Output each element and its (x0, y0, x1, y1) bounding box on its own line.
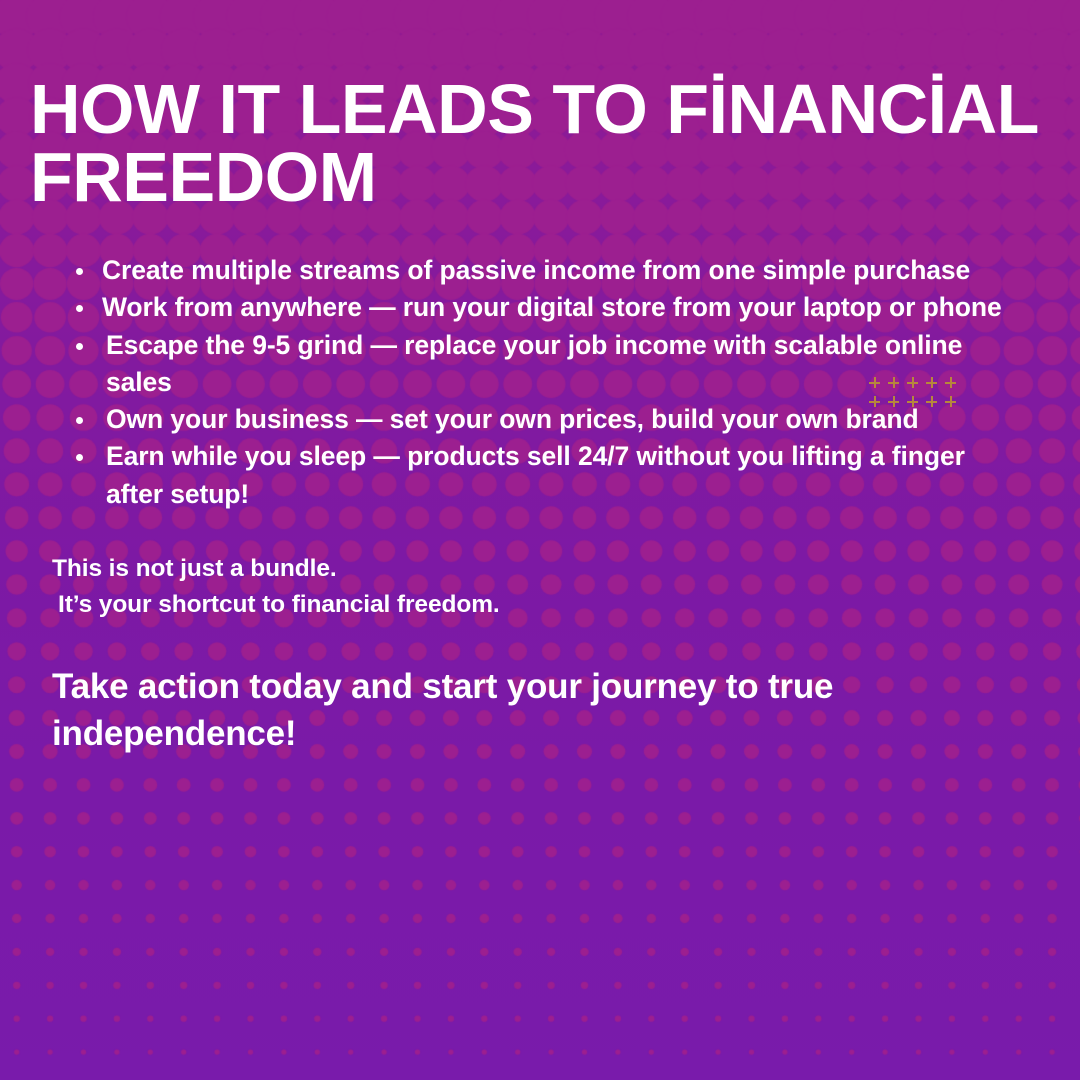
bullet-dot-icon (76, 417, 83, 424)
plus-icon (907, 396, 918, 407)
list-item: Create multiple streams of passive incom… (62, 252, 1027, 289)
list-item-label: Own your business — set your own prices,… (106, 404, 919, 434)
plus-icon (945, 377, 956, 388)
plus-icon (888, 396, 899, 407)
list-item-label: Earn while you sleep — products sell 24/… (106, 441, 965, 508)
plus-icon (926, 396, 937, 407)
bullet-dot-icon (76, 305, 83, 312)
plus-icon (869, 377, 880, 388)
slide-canvas: HOW IT LEADS TO FİNANCİAL FREEDOM Create… (0, 0, 1080, 1080)
slide-content: HOW IT LEADS TO FİNANCİAL FREEDOM Create… (0, 0, 1080, 1080)
plus-grid-decoration (869, 377, 955, 413)
subtext-line-2: It’s your shortcut to financial freedom. (52, 587, 852, 623)
list-item-label: Work from anywhere — run your digital st… (102, 292, 1002, 322)
bullet-dot-icon (76, 454, 83, 461)
list-item-label: Create multiple streams of passive incom… (102, 255, 970, 285)
subtext-block: This is not just a bundle. It’s your sho… (52, 551, 852, 623)
plus-icon (869, 396, 880, 407)
call-to-action-text: Take action today and start your journey… (52, 663, 932, 757)
list-item-label: Escape the 9-5 grind — replace your job … (106, 330, 962, 397)
plus-icon (888, 377, 899, 388)
subtext-line-1: This is not just a bundle. (52, 551, 852, 587)
list-item: Earn while you sleep — products sell 24/… (62, 438, 1027, 513)
bullet-dot-icon (76, 268, 83, 275)
plus-icon (945, 396, 956, 407)
bullet-dot-icon (76, 343, 83, 350)
list-item: Work from anywhere — run your digital st… (62, 289, 1027, 326)
page-title: HOW IT LEADS TO FİNANCİAL FREEDOM (30, 75, 1040, 212)
plus-icon (907, 377, 918, 388)
plus-icon (926, 377, 937, 388)
